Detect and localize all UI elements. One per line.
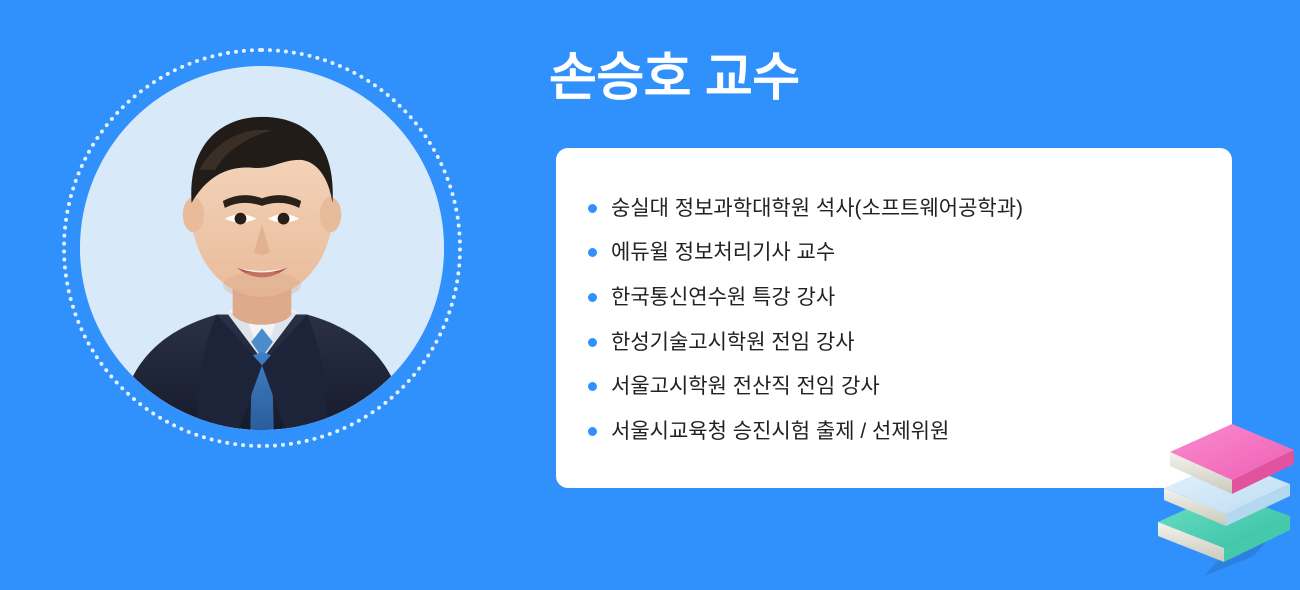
bullet-dot-icon bbox=[588, 293, 597, 302]
list-item: 서울고시학원 전산직 전임 강사 bbox=[556, 364, 1232, 409]
professor-profile-banner: 손승호 교수 숭실대 정보과학대학원 석사(소프트웨어공학과) 에듀윌 정보처리… bbox=[0, 0, 1300, 590]
list-item: 한성기술고시학원 전임 강사 bbox=[556, 320, 1232, 365]
page-title: 손승호 교수 bbox=[549, 46, 800, 111]
credential-text: 한국통신연수원 특강 강사 bbox=[611, 287, 835, 308]
list-item: 한국통신연수원 특강 강사 bbox=[556, 275, 1232, 320]
credential-text: 서울고시학원 전산직 전임 강사 bbox=[611, 376, 880, 397]
credentials-card: 숭실대 정보과학대학원 석사(소프트웨어공학과) 에듀윌 정보처리기사 교수 한… bbox=[556, 148, 1232, 488]
bullet-dot-icon bbox=[588, 204, 597, 213]
credential-text: 한성기술고시학원 전임 강사 bbox=[611, 332, 855, 353]
portrait-ring bbox=[62, 48, 462, 448]
bullet-dot-icon bbox=[588, 427, 597, 436]
list-item: 숭실대 정보과학대학원 석사(소프트웨어공학과) bbox=[556, 186, 1232, 231]
credentials-list: 숭실대 정보과학대학원 석사(소프트웨어공학과) 에듀윌 정보처리기사 교수 한… bbox=[556, 148, 1232, 454]
bullet-dot-icon bbox=[588, 248, 597, 257]
credential-text: 에듀윌 정보처리기사 교수 bbox=[611, 242, 835, 263]
list-item: 에듀윌 정보처리기사 교수 bbox=[556, 231, 1232, 276]
book-stack-graphic bbox=[1148, 404, 1300, 590]
list-item: 서울시교육청 승진시험 출제 / 선제위원 bbox=[556, 409, 1232, 454]
portrait-photo bbox=[80, 66, 444, 430]
credential-text: 숭실대 정보과학대학원 석사(소프트웨어공학과) bbox=[611, 198, 1023, 219]
book-stack-icon bbox=[1148, 404, 1300, 590]
bullet-dot-icon bbox=[588, 338, 597, 347]
credential-text: 서울시교육청 승진시험 출제 / 선제위원 bbox=[611, 421, 949, 442]
bullet-dot-icon bbox=[588, 382, 597, 391]
avatar bbox=[80, 66, 444, 430]
